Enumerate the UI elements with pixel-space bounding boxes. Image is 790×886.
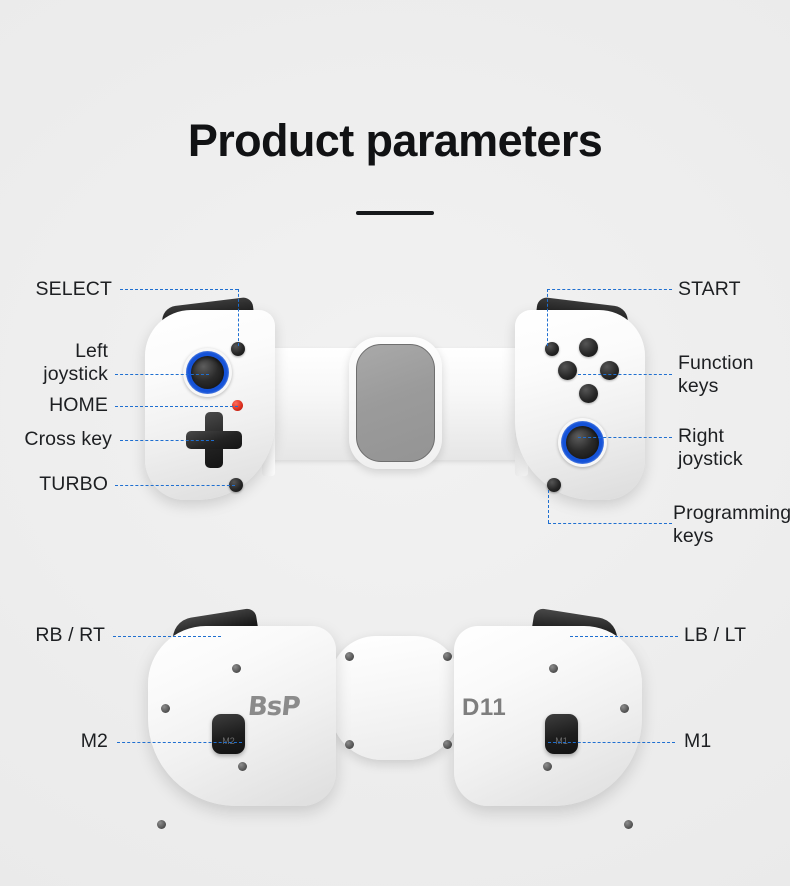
- leader-left-joystick: [115, 374, 209, 375]
- label-cross-key: Cross key: [0, 428, 112, 451]
- screw-dot: [238, 762, 247, 771]
- screw-dot: [443, 652, 452, 661]
- leader-programming-horizontal: [548, 523, 672, 524]
- leader-lb-lt: [570, 636, 678, 637]
- leader-m1: [548, 742, 675, 743]
- screw-dot: [624, 820, 633, 829]
- screw-dot: [232, 664, 241, 673]
- label-rb-rt: RB / RT: [0, 624, 105, 647]
- label-m2: M2: [0, 730, 108, 753]
- right-joystick: [558, 418, 607, 467]
- leader-home: [115, 406, 238, 407]
- screw-dot: [549, 664, 558, 673]
- label-turbo: TURBO: [0, 473, 108, 496]
- label-right-joystick: Right joystick: [678, 425, 790, 471]
- leader-function-keys: [578, 374, 672, 375]
- screw-dot: [157, 820, 166, 829]
- title-block: Product parameters: [0, 118, 790, 215]
- function-key-square: [558, 361, 577, 380]
- paddle-button-m2: M2: [212, 714, 245, 754]
- screw-dot: [345, 652, 354, 661]
- label-left-joystick: Left joystick: [0, 340, 108, 386]
- leader-start-horizontal: [547, 289, 672, 290]
- model-name-d11: D11: [462, 694, 506, 722]
- programming-key-button: [547, 478, 561, 492]
- controller-back-view: M2 M1: [0, 612, 790, 862]
- leader-m2: [117, 742, 242, 743]
- leader-cross-key: [120, 440, 214, 441]
- function-key-cross: [579, 384, 598, 403]
- label-start: START: [678, 278, 790, 301]
- label-home: HOME: [0, 394, 108, 417]
- screw-dot: [161, 704, 170, 713]
- screw-dot: [543, 762, 552, 771]
- label-function-keys: Function keys: [678, 352, 790, 398]
- grip-left: [145, 310, 275, 500]
- leader-rb-rt: [113, 636, 221, 637]
- function-keys-cluster: [558, 338, 620, 404]
- screw-dot: [620, 704, 629, 713]
- leader-start-vertical: [547, 289, 548, 346]
- page-title: Product parameters: [0, 118, 790, 163]
- function-key-circle: [600, 361, 619, 380]
- left-joystick: [183, 348, 232, 397]
- screw-dot: [345, 740, 354, 749]
- brand-logo-bsp: BsP: [246, 692, 301, 722]
- leader-programming-vertical: [548, 490, 549, 523]
- label-select: SELECT: [0, 278, 112, 301]
- leader-turbo: [115, 485, 235, 486]
- controller-front-view: [0, 300, 790, 540]
- label-programming-keys: Programming keys: [673, 502, 790, 548]
- phone-clamp-inner: [356, 344, 435, 462]
- screw-dot: [443, 740, 452, 749]
- function-key-triangle: [579, 338, 598, 357]
- leader-select-vertical: [238, 289, 239, 346]
- leader-right-joystick: [578, 437, 672, 438]
- label-m1: M1: [684, 730, 790, 753]
- title-underline-rule: [356, 211, 434, 215]
- leader-select-horizontal: [120, 289, 238, 290]
- phone-clamp-pad: [349, 337, 442, 469]
- product-parameters-page: Product parameters: [0, 0, 790, 886]
- label-lb-lt: LB / LT: [684, 624, 790, 647]
- paddle-button-m1: M1: [545, 714, 578, 754]
